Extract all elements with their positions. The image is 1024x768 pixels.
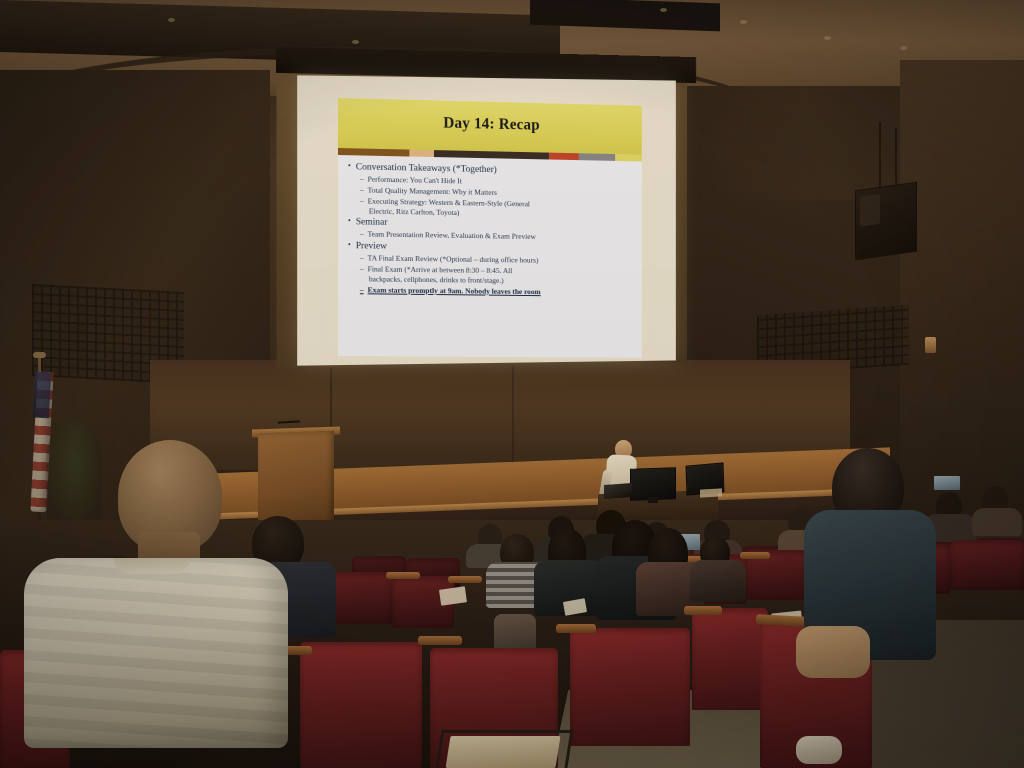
desk-papers <box>700 488 722 497</box>
ceiling-downlight-icon <box>660 8 667 12</box>
right-foreground-student <box>790 448 980 748</box>
foreground-laptop-screen <box>445 736 560 768</box>
monitor <box>630 467 676 501</box>
seat-armrest <box>448 576 482 583</box>
monitor-stand <box>648 497 658 503</box>
ceiling-downlight-icon <box>168 18 175 22</box>
slide-bullet-emphasized: Exam starts promptly at 9am. Nobody leav… <box>360 285 633 298</box>
theater-seat <box>570 628 690 746</box>
stripe-segment-red <box>549 153 579 161</box>
lecture-hall-photo: Day 14: Recap Conversation Takeaways (*T… <box>0 0 1024 768</box>
ceiling-downlight-icon <box>352 40 359 44</box>
audience-torso <box>690 560 746 602</box>
slide-bullet-l2: Final Exam (*Arrive at between 8:30 – 8:… <box>360 264 633 287</box>
stripe-segment-peach <box>409 150 434 157</box>
stripe-segment-brown <box>338 148 409 157</box>
slide-title-bar: Day 14: Recap <box>338 98 642 155</box>
foreground-student-collar <box>114 558 190 574</box>
lecturer-laptop <box>604 483 632 499</box>
hanging-speaker-icon <box>855 182 917 261</box>
ceiling-downlight-icon <box>740 20 747 24</box>
seat-armrest <box>740 552 770 559</box>
seat-armrest <box>556 624 596 633</box>
speaker-mount-rod <box>879 122 881 192</box>
speaker-mount-rod <box>895 128 897 190</box>
seat-armrest <box>684 606 722 615</box>
ceiling-downlight-icon <box>824 36 831 40</box>
seat-armrest <box>418 636 462 645</box>
slide-title: Day 14: Recap <box>338 112 642 137</box>
stripe-segment-gray <box>579 153 615 161</box>
wall-sconce-icon <box>925 337 936 353</box>
ceiling-downlight-icon <box>900 46 907 50</box>
right-foreground-student-shoe <box>796 736 842 764</box>
slide-body: Conversation Takeaways (*Together) Perfo… <box>338 155 642 298</box>
flag-finial <box>33 352 46 358</box>
theater-seat <box>300 642 422 768</box>
stripe-segment-yellow <box>615 154 642 161</box>
right-foreground-student-leg <box>796 626 870 678</box>
presentation-slide: Day 14: Recap Conversation Takeaways (*T… <box>338 98 642 358</box>
foreground-student <box>10 440 310 740</box>
stage-wall-seam <box>512 360 514 468</box>
american-flag-canton <box>33 372 51 419</box>
seat-armrest <box>386 572 420 579</box>
theater-seat <box>330 572 392 624</box>
foreground-student-shirt <box>24 558 288 748</box>
